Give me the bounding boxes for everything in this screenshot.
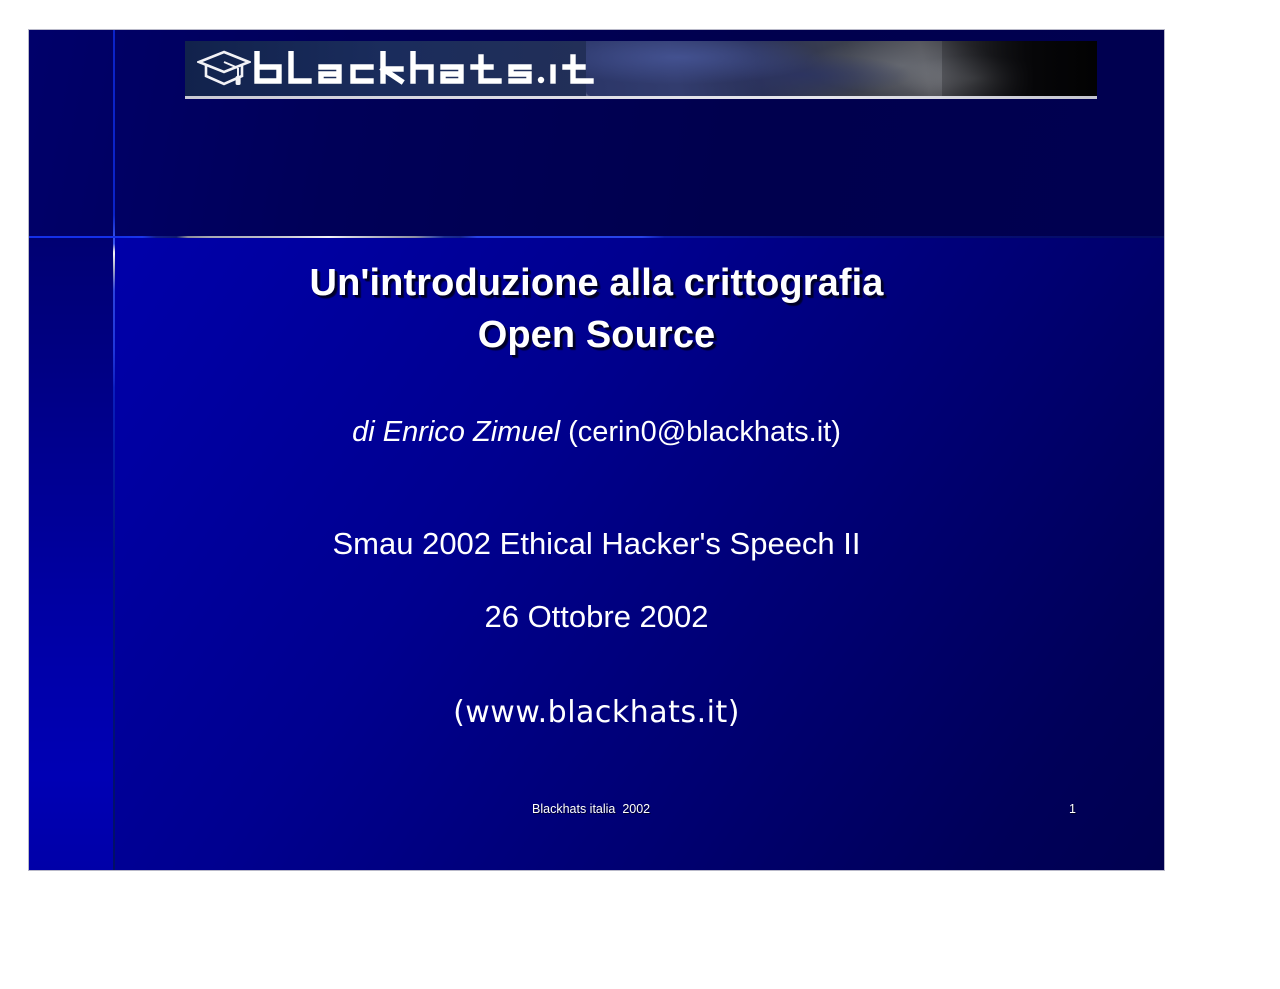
author-email: (cerin0@blackhats.it) <box>560 416 841 448</box>
footer-organization: Blackhats italia 2002 <box>532 802 650 816</box>
title-line-1: Un'introduzione alla crittografia <box>29 257 1164 309</box>
slide-content: Un'introduzione alla crittografia Open S… <box>29 30 1164 870</box>
event-date: 26 Ottobre 2002 <box>29 597 1164 637</box>
website-url: (www.blackhats.it) <box>29 693 1164 733</box>
author-line: di Enrico Zimuel (cerin0@blackhats.it) <box>29 413 1164 451</box>
title-line-2: Open Source <box>29 309 1164 361</box>
event-name: Smau 2002 Ethical Hacker's Speech II <box>29 524 1164 564</box>
page-title: Un'introduzione alla crittografia Open S… <box>29 257 1164 361</box>
presentation-slide: Un'introduzione alla crittografia Open S… <box>28 29 1165 871</box>
footer-page-number: 1 <box>1069 802 1076 816</box>
author-name: di Enrico Zimuel <box>352 416 560 448</box>
